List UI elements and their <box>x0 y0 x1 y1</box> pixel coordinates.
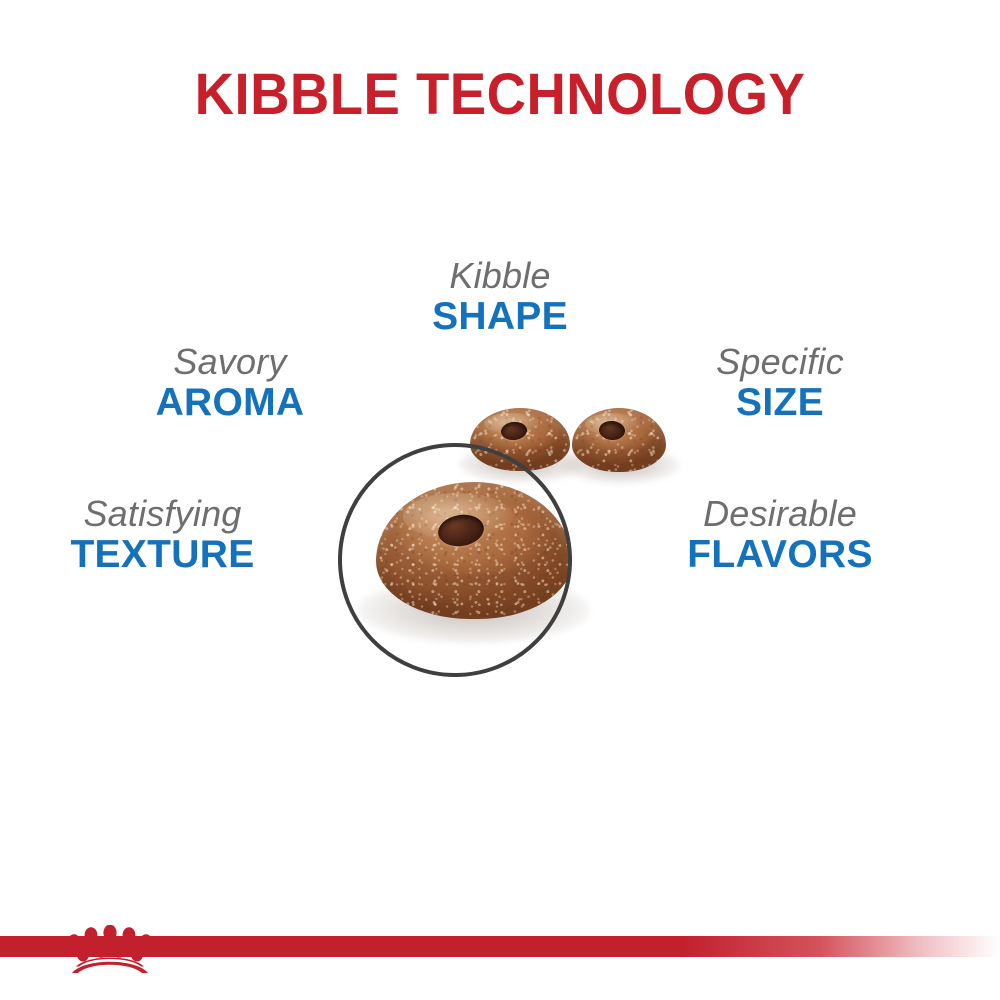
page-title: KIBBLE TECHNOLOGY <box>30 64 970 126</box>
feature-key-shape: SHAPE <box>340 297 660 337</box>
feature-lead-size: Specific <box>620 344 940 381</box>
feature-lead-aroma: Savory <box>60 344 400 381</box>
infographic-canvas: KIBBLE TECHNOLOGY Kibble SHAPE Savory AR… <box>0 0 1000 1000</box>
feature-key-texture: TEXTURE <box>30 535 295 575</box>
crown-icon <box>68 925 152 973</box>
feature-lead-texture: Satisfying <box>30 496 295 533</box>
kibble-small-2 <box>572 408 666 472</box>
kibble-highlight-circle <box>338 443 572 677</box>
royal-canin-crown-logo <box>62 925 158 975</box>
kibble-photo-group <box>300 390 720 700</box>
feature-label-texture: Satisfying TEXTURE <box>30 496 295 574</box>
feature-lead-shape: Kibble <box>340 258 660 295</box>
feature-label-shape: Kibble SHAPE <box>340 258 660 336</box>
